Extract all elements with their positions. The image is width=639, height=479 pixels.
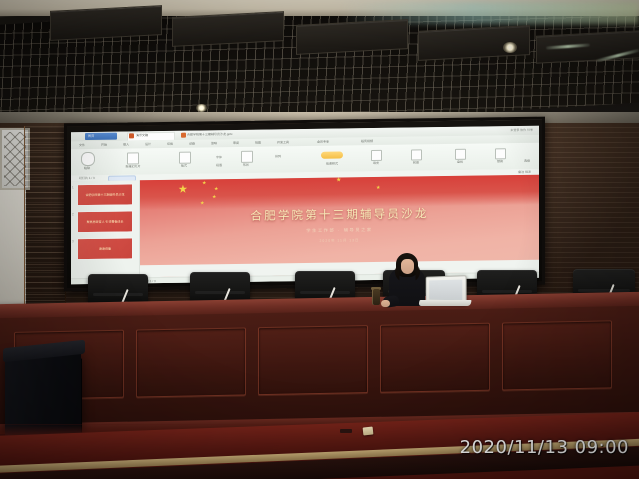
fill-icon[interactable] bbox=[371, 150, 382, 161]
podium-panel bbox=[258, 325, 368, 395]
quick-style-pill[interactable] bbox=[321, 151, 343, 158]
ribbon-label[interactable]: 形状 bbox=[235, 163, 257, 167]
ribbon-label[interactable]: 字体 bbox=[209, 155, 229, 159]
shape-icon[interactable] bbox=[241, 151, 253, 163]
flag-star-icon: ★ bbox=[178, 185, 188, 196]
thumbnail-label: 合肥学院第十三期辅导员沙龙 bbox=[78, 192, 132, 197]
ribbon-label[interactable]: 查找 bbox=[447, 160, 473, 164]
flag-star-icon: ★ bbox=[214, 187, 218, 192]
camera-timestamp: 2020/11/13 09:00 bbox=[460, 437, 629, 458]
replace-icon[interactable] bbox=[495, 148, 506, 159]
thumbnail-number: 1 bbox=[72, 185, 74, 189]
account-info-label[interactable]: 未登录 协作 分享 bbox=[510, 128, 533, 132]
slide-thumbnail[interactable]: 聚焦思政育人 引领青春成长 bbox=[77, 210, 133, 233]
layout-icon[interactable] bbox=[179, 152, 191, 164]
ceiling-spotlight bbox=[503, 42, 517, 53]
ribbon-label[interactable]: 填充 bbox=[363, 161, 389, 165]
laptop-display bbox=[429, 280, 462, 301]
document-tab-label: 演示文稿 bbox=[136, 133, 148, 137]
paste-icon[interactable] bbox=[81, 152, 95, 166]
flag-star-icon: ★ bbox=[376, 186, 380, 191]
menu-item[interactable]: 放映 bbox=[211, 141, 217, 145]
ceiling bbox=[0, 0, 639, 122]
floor-paper bbox=[363, 426, 374, 435]
thumbnail-number: 3 bbox=[72, 239, 74, 243]
ribbon-label[interactable]: 轮廓 bbox=[403, 160, 429, 164]
window-lattice bbox=[4, 132, 26, 186]
slide-thumbnail-panel[interactable]: 1 合肥学院第十三期辅导员沙龙 2 聚焦思政育人 引领青春成长 3 谢谢观看 bbox=[71, 180, 140, 284]
flag-star-icon: ★ bbox=[202, 181, 206, 186]
presenter-face bbox=[401, 259, 414, 274]
ribbon-label[interactable]: 排列 bbox=[267, 154, 289, 158]
ribbon-label[interactable]: 版式 bbox=[167, 163, 201, 167]
podium-front bbox=[0, 306, 639, 431]
tab-home-label: 首页 bbox=[88, 133, 94, 137]
outline-icon[interactable] bbox=[411, 149, 422, 160]
menu-item[interactable]: 插入 bbox=[123, 142, 129, 146]
slide-canvas[interactable]: ★ ★ ★ ★ ★ ★ ★ 合肥学院第十三期辅导员沙龙 学生工作部 · 辅导员之… bbox=[140, 175, 539, 278]
slide-subtitle: 学生工作部 · 辅导员之家 bbox=[140, 225, 539, 237]
menu-item[interactable]: 审阅 bbox=[233, 141, 239, 145]
slide-date: 2020年 11月 13日 bbox=[140, 235, 539, 246]
ribbon-label[interactable]: 段落 bbox=[209, 163, 229, 167]
beverage-cup bbox=[372, 289, 380, 305]
conference-chair[interactable] bbox=[88, 274, 148, 304]
ribbon-label[interactable]: 选择 bbox=[517, 159, 537, 163]
menu-item[interactable]: 文件 bbox=[79, 143, 85, 147]
find-icon[interactable] bbox=[455, 149, 466, 160]
floor-object-dark bbox=[340, 429, 352, 433]
ribbon-label[interactable]: 快速样式 bbox=[315, 161, 349, 165]
thumbnail-label: 谢谢观看 bbox=[78, 246, 132, 251]
screenshot-root: 首页 演示文稿 合肥学院第十三期辅导员沙龙.pptx 未登录 协作 分享 文件 … bbox=[0, 0, 639, 479]
file-icon bbox=[181, 133, 186, 138]
menu-item[interactable]: 开发工具 bbox=[277, 140, 289, 144]
ceiling-panel bbox=[50, 5, 162, 41]
thumbnail-label: 聚焦思政育人 引领青春成长 bbox=[78, 219, 132, 224]
ceiling-panel bbox=[296, 19, 408, 55]
ceiling-panel bbox=[172, 11, 284, 47]
menu-item[interactable]: 会员专享 bbox=[317, 139, 329, 143]
slide-thumbnail[interactable]: 合肥学院第十三期辅导员沙龙 bbox=[77, 183, 133, 206]
notes-comments-label[interactable]: 备注 批注 bbox=[518, 170, 531, 174]
menu-item[interactable]: 设计 bbox=[145, 142, 151, 146]
laptop-keyboard[interactable] bbox=[418, 300, 471, 306]
new-slide-icon[interactable] bbox=[127, 152, 139, 164]
conference-chair[interactable] bbox=[190, 272, 250, 303]
ribbon-label[interactable]: 替换 bbox=[487, 159, 513, 163]
ribbon-label[interactable]: 粘贴 bbox=[75, 166, 99, 170]
projection-screen[interactable]: 首页 演示文稿 合肥学院第十三期辅导员沙龙.pptx 未登录 协作 分享 文件 … bbox=[71, 126, 539, 285]
podium-panel bbox=[136, 327, 246, 397]
menu-item[interactable]: 切换 bbox=[167, 141, 173, 145]
flag-star-icon: ★ bbox=[212, 195, 216, 200]
podium-panel bbox=[380, 323, 490, 393]
file-name-label: 合肥学院第十三期辅导员沙龙.pptx bbox=[187, 132, 233, 137]
menu-item[interactable]: 稻壳视频 bbox=[361, 139, 373, 143]
menu-item[interactable]: 视图 bbox=[255, 140, 261, 144]
flag-star-icon: ★ bbox=[200, 201, 204, 206]
ceiling-spotlight bbox=[196, 104, 207, 112]
presentation-icon bbox=[129, 133, 134, 138]
thumbnail-number: 2 bbox=[72, 212, 74, 216]
presenter-hand bbox=[381, 300, 390, 307]
flag-star-icon: ★ bbox=[336, 177, 341, 183]
projection-screen-bezel: 首页 演示文稿 合肥学院第十三期辅导员沙龙.pptx 未登录 协作 分享 文件 … bbox=[64, 117, 545, 292]
menu-item[interactable]: 开始 bbox=[101, 142, 107, 146]
ribbon-label[interactable]: 新建幻灯片 bbox=[111, 164, 155, 169]
slide-counter-label: 幻灯片 1 / 3 bbox=[79, 176, 95, 180]
slide-thumbnail[interactable]: 谢谢观看 bbox=[77, 237, 133, 260]
menu-item[interactable]: 动画 bbox=[189, 141, 195, 145]
podium-panel bbox=[502, 320, 612, 390]
